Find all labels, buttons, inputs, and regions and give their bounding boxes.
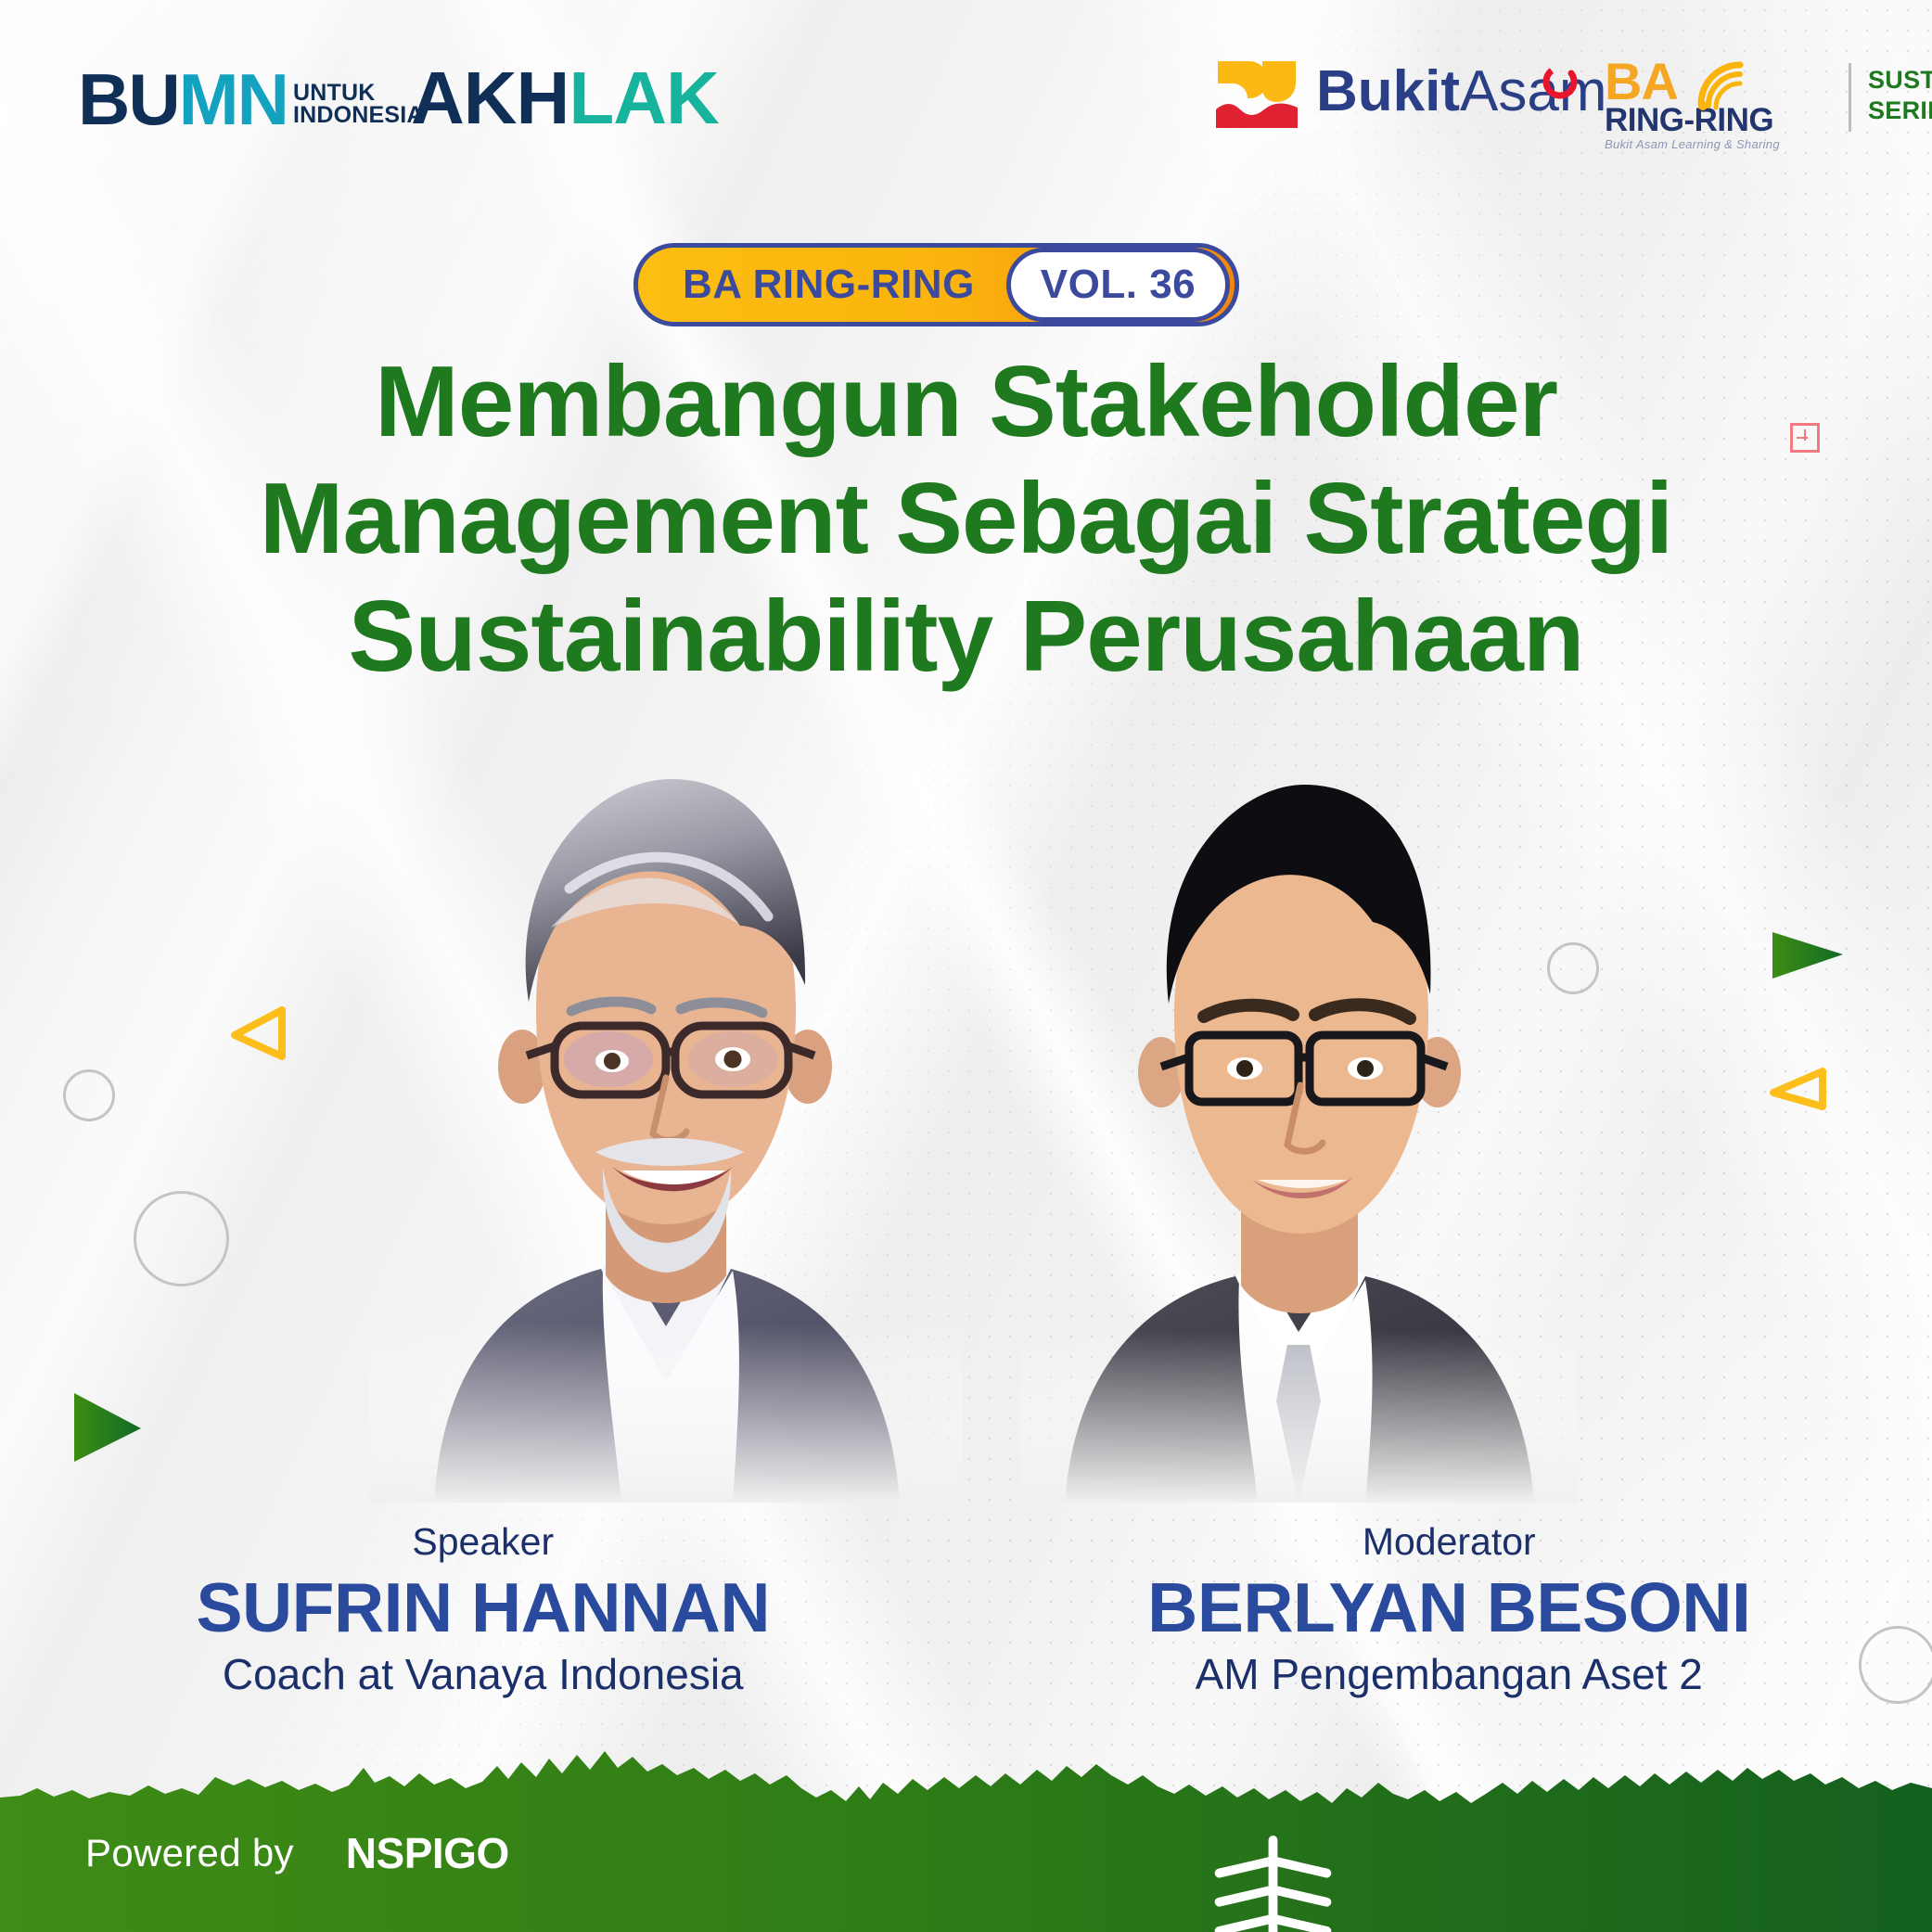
moderator-position: AM Pengembangan Aset 2 [966, 1650, 1932, 1699]
wifi-signal-icon [1694, 58, 1779, 111]
person-speaker: Speaker SUFRIN HANNAN Coach at Vanaya In… [0, 1521, 966, 1699]
ring-ring-tagline: Bukit Asam Learning & Sharing [1605, 137, 1841, 151]
moderator-photo [1020, 751, 1577, 1503]
bumn-tagline-line1: UNTUK [293, 82, 424, 104]
inspigo-leaf-icon [307, 1832, 339, 1874]
person-moderator: Moderator BERLYAN BESONI AM Pengembangan… [966, 1521, 1932, 1699]
ba-ring-ring-ba: BA [1605, 58, 1841, 106]
badge-volume: VOL. 36 [1006, 248, 1230, 322]
header-logos: BUMN UNTUK INDONESIA AKHLAK BukitAsam [0, 0, 1932, 176]
title-line-1: Membangun Stakeholder [0, 343, 1932, 460]
akhlak-lak-text: LAK [569, 57, 718, 139]
moderator-role-label: Moderator [966, 1521, 1932, 1563]
speaker-role-label: Speaker [0, 1521, 966, 1563]
footer-band: Powered by NSPIGO [0, 1742, 1932, 1932]
logo-divider [1849, 63, 1851, 132]
speaker-photo [369, 733, 963, 1503]
ba-ring-ring-left: BA RING-RING Bukit Asam Learning & Shari… [1605, 58, 1841, 151]
webinar-poster: BUMN UNTUK INDONESIA AKHLAK BukitAsam [0, 0, 1932, 1932]
speaker-name: SUFRIN HANNAN [0, 1568, 966, 1646]
akhlak-akh-text: AKH [411, 57, 569, 139]
bukit-asam-red-circle-icon [1542, 61, 1582, 102]
plus-marker-icon [1790, 423, 1820, 453]
moderator-name: BERLYAN BESONI [966, 1568, 1932, 1646]
bumn-tagline-line2: INDONESIA [293, 104, 424, 126]
akhlak-logo: AKHLAK [411, 61, 719, 135]
people-list: Speaker SUFRIN HANNAN Coach at Vanaya In… [0, 1521, 1932, 1699]
page-title: Membangun Stakeholder Management Sebagai… [0, 343, 1932, 695]
bumn-bu-text: BU [78, 58, 179, 140]
series-line1: SUSTAINABILITY [1868, 65, 1932, 96]
sustainability-series-text: SUSTAINABILITY SERIES [1868, 58, 1932, 126]
powered-by-label: Powered by [85, 1831, 294, 1875]
bukit-text: Bukit [1316, 59, 1460, 123]
volume-badge: BA RING-RING VOL. 36 [633, 243, 1239, 326]
badge-label: BA RING-RING [638, 262, 1006, 308]
series-line2: SERIES [1868, 96, 1932, 126]
bumn-logo: BUMN UNTUK INDONESIA [78, 70, 424, 128]
bumn-tagline: UNTUK INDONESIA [293, 82, 424, 127]
speaker-position: Coach at Vanaya Indonesia [0, 1650, 966, 1699]
title-line-2: Management Sebagai Strategi [0, 460, 1932, 577]
powered-by: Powered by NSPIGO [85, 1828, 509, 1878]
asam-text: Asam [1460, 59, 1606, 123]
title-line-3: Sustainability Perusahaan [0, 578, 1932, 695]
bukit-asam-mark-icon [1210, 56, 1303, 128]
ba-text: BA [1605, 52, 1678, 110]
speaker-photos [0, 733, 1932, 1512]
ba-ring-ring-logo: BA RING-RING Bukit Asam Learning & Shari… [1605, 58, 1932, 151]
bumn-mn-text: MN [179, 58, 288, 140]
